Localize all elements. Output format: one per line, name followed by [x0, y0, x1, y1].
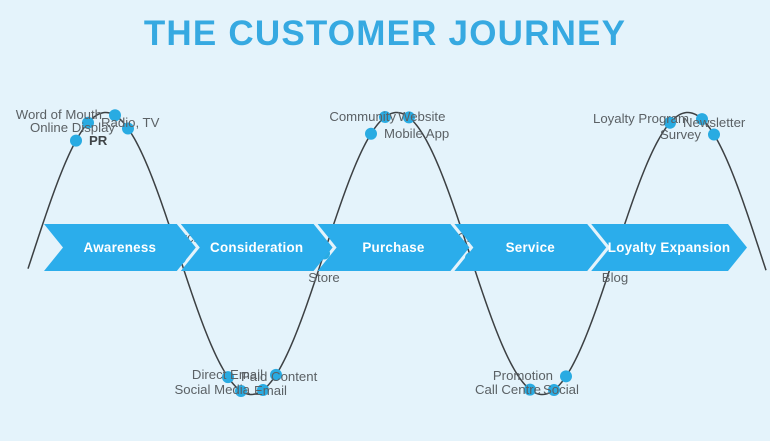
stage-label-purchase[interactable]: Purchase: [318, 224, 470, 271]
touchpoint-label: Survey: [660, 128, 701, 141]
touchpoint-label: Call Centre: [475, 383, 541, 396]
stage-label-consideration[interactable]: Consideration: [181, 224, 333, 271]
stage-label-service[interactable]: Service: [454, 224, 606, 271]
touchpoint-label: Online Display: [30, 121, 115, 134]
touchpoint-label: Social Media: [175, 383, 251, 396]
touchpoint-label: Direct Email: [192, 368, 263, 381]
stage-banner: AwarenessConsiderationPurchaseServiceLoy…: [44, 224, 747, 271]
touchpoint-label: PR: [89, 134, 107, 147]
touchpoint-dot[interactable]: [708, 129, 720, 141]
touchpoint-dot[interactable]: [70, 135, 82, 147]
touchpoint-label: Social: [543, 383, 579, 396]
touchpoint-dot[interactable]: [365, 128, 377, 140]
touchpoint-label: Email: [254, 384, 287, 397]
touchpoint-label: Community: [329, 110, 396, 123]
touchpoint-label: Promotion: [493, 369, 553, 382]
stage-label-awareness[interactable]: Awareness: [44, 224, 196, 271]
touchpoint-label: Mobile App: [384, 127, 449, 140]
infographic-canvas: THE CUSTOMER JOURNEY PRRadio, TVWord of …: [0, 0, 770, 441]
touchpoint-label: Loyalty Program: [593, 112, 689, 125]
stage-label-loyalty-expansion[interactable]: Loyalty Expansion: [591, 224, 747, 271]
journey-wave-chart: [0, 0, 770, 441]
touchpoint-dot[interactable]: [560, 370, 572, 382]
touchpoint-label: Website: [398, 110, 445, 123]
